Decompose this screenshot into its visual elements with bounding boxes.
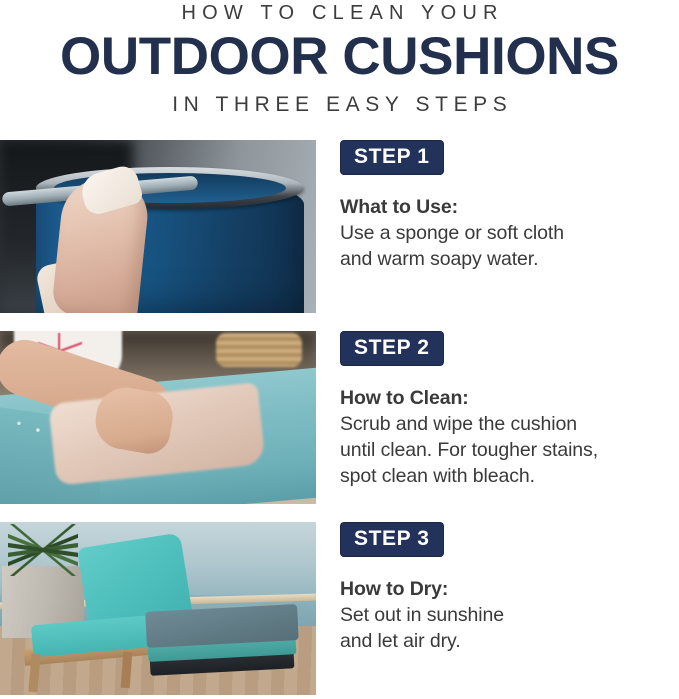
status-badge: STEP 3: [340, 522, 444, 557]
step-body-line: and warm soapy water.: [340, 246, 679, 272]
step-body-line: Use a sponge or soft cloth: [340, 220, 679, 246]
step-body-line: Set out in sunshine: [340, 602, 679, 628]
step-row: STEP 2 How to Clean: Scrub and wipe the …: [0, 331, 679, 504]
header-subkicker: IN THREE EASY STEPS: [0, 92, 679, 118]
status-badge: STEP 1: [340, 140, 444, 175]
step-body-line: and let air dry.: [340, 628, 679, 654]
step-body: Set out in sunshine and let air dry.: [340, 602, 679, 654]
step-heading: How to Dry:: [340, 576, 679, 602]
hand-scrubbing-teal-cushion-photo: [0, 331, 316, 504]
status-badge: STEP 2: [340, 331, 444, 366]
teal-chaise-lounge-poolside-photo: [0, 522, 316, 695]
step-heading: How to Clean:: [340, 385, 679, 411]
step-body-line: spot clean with bleach.: [340, 463, 679, 489]
infographic-header: HOW TO CLEAN YOUR OUTDOOR CUSHIONS IN TH…: [0, 0, 679, 118]
step-body-line: Scrub and wipe the cushion: [340, 411, 679, 437]
step-heading: What to Use:: [340, 194, 679, 220]
step-text-block: STEP 2 How to Clean: Scrub and wipe the …: [340, 331, 679, 489]
header-kicker: HOW TO CLEAN YOUR: [0, 1, 679, 25]
steps-list: STEP 1 What to Use: Use a sponge or soft…: [0, 140, 679, 695]
step-row: STEP 1 What to Use: Use a sponge or soft…: [0, 140, 679, 313]
step-body: Use a sponge or soft cloth and warm soap…: [340, 220, 679, 272]
step-body-line: until clean. For tougher stains,: [340, 437, 679, 463]
step-text-block: STEP 1 What to Use: Use a sponge or soft…: [340, 140, 679, 272]
step-text-block: STEP 3 How to Dry: Set out in sunshine a…: [340, 522, 679, 654]
step-body: Scrub and wipe the cushion until clean. …: [340, 411, 679, 489]
blue-bucket-with-cloth-photo: [0, 140, 316, 313]
step-row: STEP 3 How to Dry: Set out in sunshine a…: [0, 522, 679, 695]
page-title: OUTDOOR CUSHIONS: [0, 29, 679, 85]
